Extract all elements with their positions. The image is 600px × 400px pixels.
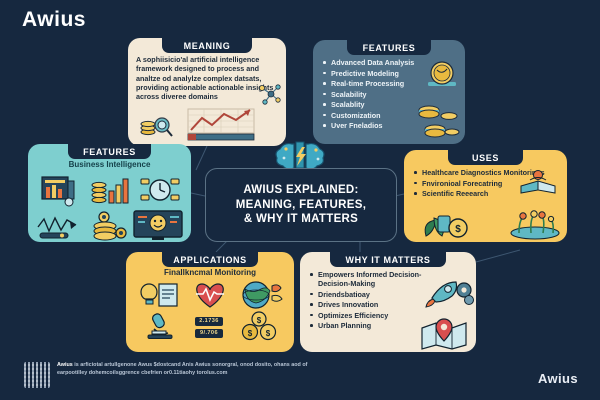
microscope-icon <box>140 311 180 343</box>
center-title-node[interactable]: AWIUS EXPLAINED: MEANING, FEATURES, & WH… <box>205 168 397 242</box>
svg-text:$: $ <box>248 329 253 338</box>
card-applications-subtitle: Finallkncmal Monitoring <box>126 268 294 277</box>
card-features-left-title: FEATURES <box>68 144 151 159</box>
center-title: AWIUS EXPLAINED: MEANING, FEATURES, & WH… <box>236 183 366 227</box>
money-plant-icon: $ <box>420 206 476 240</box>
trend-arrow-icon <box>36 211 84 241</box>
list-item: Empowers Informed Decision-Decision-Maki… <box>310 270 434 288</box>
metric-badge: 9/.706 <box>195 329 223 338</box>
rocket-gear-icon <box>424 278 474 308</box>
svg-text:$: $ <box>257 316 262 325</box>
svg-text:$: $ <box>455 224 461 235</box>
card-features-top-title: FEATURES <box>347 40 431 55</box>
list-item: Drives Innovation <box>310 300 434 309</box>
card-meaning-title: MEANING <box>162 38 252 53</box>
brand-logo-top: Awius <box>22 8 86 32</box>
metric-badge: 2.1736 <box>195 317 223 326</box>
center-title-line3: & WHY IT MATTERS <box>236 212 366 227</box>
monitor-smiley-icon <box>132 209 184 242</box>
coins-dollar-icon: $ $ $ <box>238 311 280 343</box>
card-why-it-matters-title: WHY IT MATTERS <box>330 252 446 267</box>
footer: Awius is arficiotal artullgenone Awus $d… <box>24 362 325 388</box>
bar-chart-coins-icon <box>89 173 131 207</box>
card-features-left-subtitle: Business Intelligence <box>28 160 191 169</box>
card-meaning[interactable]: MEANING A sophiisicio'al artificial inte… <box>128 38 286 146</box>
brain-icon <box>272 138 328 172</box>
map-pin-icon <box>418 316 470 350</box>
footer-disclaimer: is arficiotal artullgenone Awus $dostcan… <box>57 362 307 376</box>
footer-text: Awius is arficiotal artullgenone Awus $d… <box>57 362 325 378</box>
clock-money-icon <box>139 173 181 207</box>
card-applications-title: APPLICATIONS <box>162 252 258 267</box>
center-title-line1: AWIUS EXPLAINED: <box>236 183 366 198</box>
center-title-line2: MEANING, FEATURES, <box>236 198 366 213</box>
server-rack-icon <box>38 173 82 207</box>
card-features-left[interactable]: FEATURES Business Intelligence <box>28 144 191 242</box>
list-item: Optimizes Efficiency <box>310 311 434 320</box>
card-applications[interactable]: APPLICATIONS Finallkncmal Monitoring <box>126 252 294 352</box>
svg-text:$: $ <box>266 329 271 338</box>
open-book-icon <box>517 168 561 194</box>
card-why-it-matters[interactable]: WHY IT MATTERS Empowers Informed Decisio… <box>300 252 476 352</box>
infographic-canvas: Awius MEANING A sophiisicio'al artificia… <box>0 0 600 400</box>
lightbulb-document-icon <box>137 280 181 310</box>
list-item: Driendsbatioay <box>310 290 434 299</box>
list-item: Scalability <box>323 90 459 99</box>
metric-badges: 2.1736 9/.706 <box>195 317 223 338</box>
coins-icon <box>417 102 461 140</box>
card-features-top[interactable]: FEATURES Advanced Data Analysis Predicti… <box>313 40 465 144</box>
coins-magnifier-icon <box>138 112 178 142</box>
water-plants-icon <box>507 206 563 240</box>
card-uses-title: USES <box>448 150 523 165</box>
network-nodes-icon <box>256 82 282 106</box>
brand-logo-bottom: Awius <box>538 371 578 386</box>
qr-code-icon[interactable] <box>24 362 50 388</box>
heart-pulse-icon <box>190 280 230 310</box>
footer-brand: Awius <box>57 362 73 368</box>
list-item: Urban Planning <box>310 321 434 330</box>
card-uses[interactable]: USES Healthcare Diagnostics Monitorings … <box>404 150 567 242</box>
line-chart-icon <box>186 107 258 143</box>
gear-coins-icon <box>87 210 129 242</box>
coin-stack-icon <box>425 60 459 90</box>
globe-icon <box>239 280 283 310</box>
